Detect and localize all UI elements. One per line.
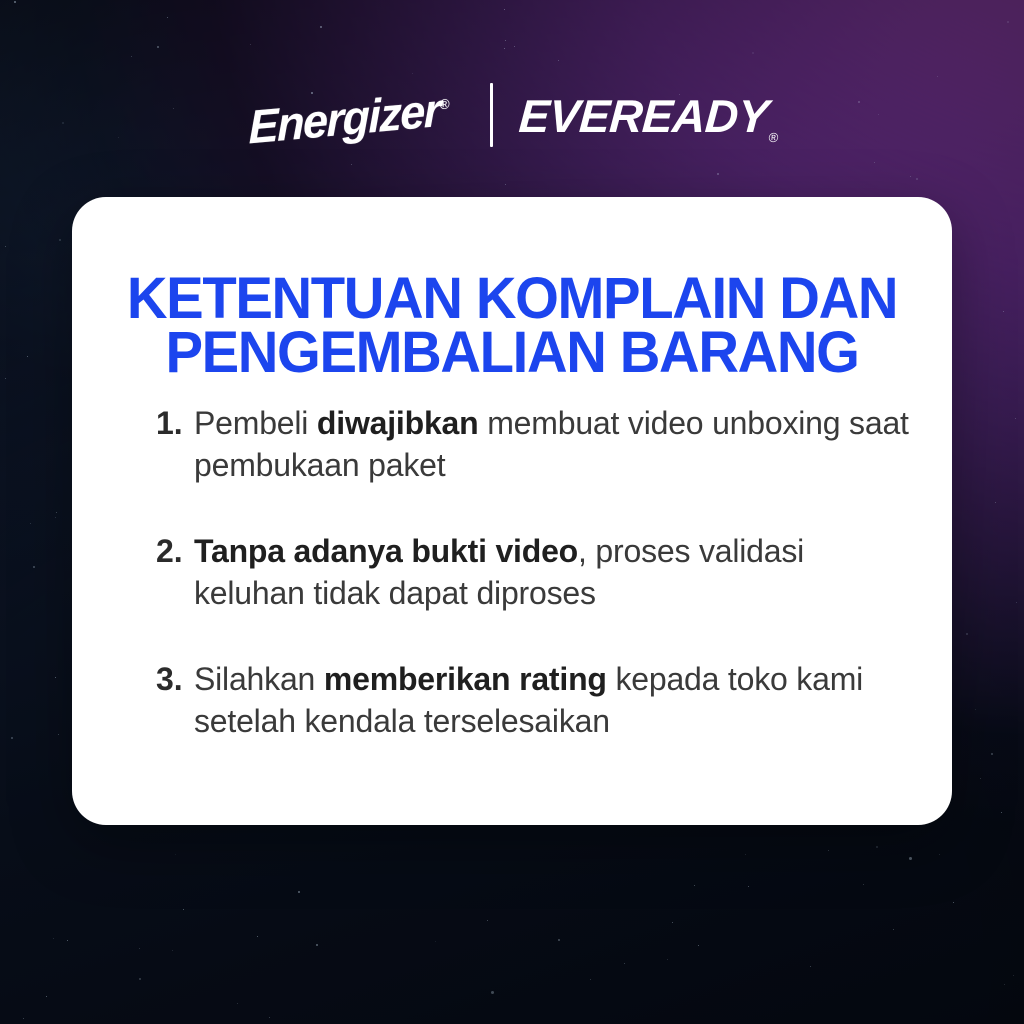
eveready-logo: EVEREADY® <box>517 89 782 145</box>
page-title: KETENTUAN KOMPLAIN DAN PENGEMBALIAN BARA… <box>85 272 939 380</box>
list-item: 1.Pembeli diwajibkan membuat video unbox… <box>156 402 912 486</box>
list-item-plain: Pembeli <box>194 405 317 441</box>
list-item-number: 1. <box>156 402 194 444</box>
terms-list: 1.Pembeli diwajibkan membuat video unbox… <box>156 402 912 742</box>
poster-canvas: Energizer® EVEREADY® KETENTUAN KOMPLAIN … <box>0 0 1024 1024</box>
notice-card: KETENTUAN KOMPLAIN DAN PENGEMBALIAN BARA… <box>72 197 952 825</box>
list-item-number: 3. <box>156 658 194 700</box>
page-title-line-1: KETENTUAN KOMPLAIN DAN <box>107 272 918 326</box>
eveready-logo-text: EVEREADY <box>517 90 770 142</box>
list-item-emphasis: diwajibkan <box>317 405 479 441</box>
list-item-text: Silahkan memberikan rating kepada toko k… <box>194 658 912 742</box>
brand-logo-bar: Energizer® EVEREADY® <box>0 78 1024 156</box>
list-item-plain: Silahkan <box>194 661 324 697</box>
page-title-line-2: PENGEMBALIAN BARANG <box>107 326 918 380</box>
energizer-registered-icon: ® <box>440 95 450 112</box>
list-item: 3.Silahkan memberikan rating kepada toko… <box>156 658 912 742</box>
energizer-logo-text: Energizer <box>249 82 440 153</box>
list-item-text: Pembeli diwajibkan membuat video unboxin… <box>194 402 912 486</box>
list-item-text: Tanpa adanya bukti video, proses validas… <box>194 530 912 614</box>
logo-divider <box>490 83 493 147</box>
list-item-number: 2. <box>156 530 194 572</box>
list-item: 2.Tanpa adanya bukti video, proses valid… <box>156 530 912 614</box>
list-item-emphasis: memberikan rating <box>324 661 607 697</box>
list-item-emphasis: Tanpa adanya bukti video <box>194 533 578 569</box>
energizer-logo: Energizer® <box>249 80 456 154</box>
eveready-registered-icon: ® <box>768 130 779 145</box>
